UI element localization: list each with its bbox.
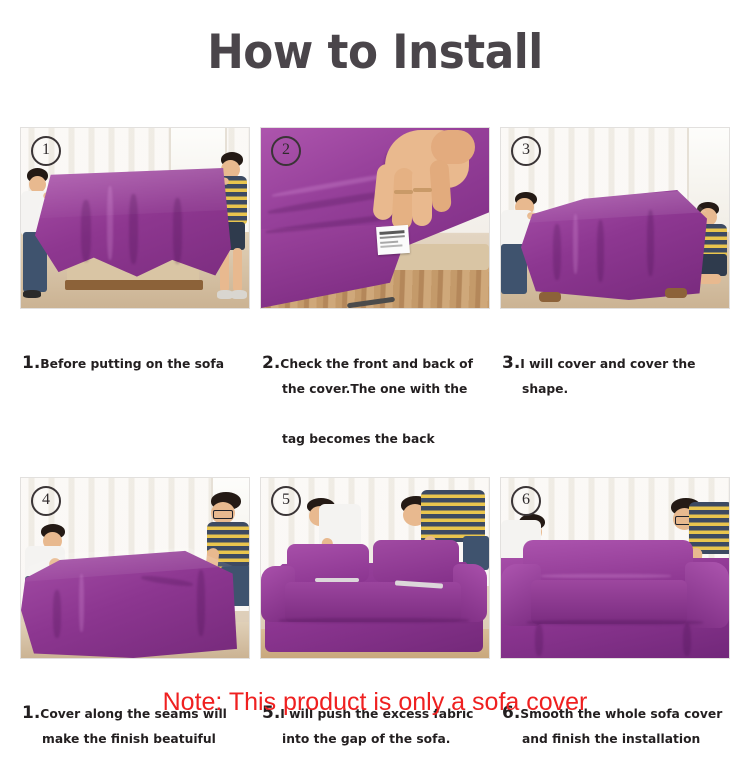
step-badge-3: 3	[511, 136, 541, 166]
step-badge-6: 6	[511, 486, 541, 516]
step-number-3: 3.	[502, 353, 520, 373]
page-title: How to Install	[26, 26, 724, 80]
step-photo-5: 5	[260, 477, 490, 659]
step-caption-line-2-2: the cover.The one with the	[262, 377, 490, 402]
install-steps-grid: 1 1.Before putting on the sofa	[20, 127, 730, 777]
step-cell-4: 4 1.Cover along the seams will make the …	[20, 477, 250, 777]
step-caption-line-5-2: into the gap of the sofa.	[262, 727, 490, 752]
hand-holding-tag	[357, 130, 473, 236]
step-cell-3: 3 3.I will cover and cover the shape.	[500, 127, 730, 477]
step-number-2: 2.	[262, 353, 280, 373]
step-badge-4: 4	[31, 486, 61, 516]
step-caption-line-2-3: tag becomes the back	[262, 427, 490, 452]
step-photo-2: 2	[260, 127, 490, 309]
care-tag	[376, 225, 410, 255]
step-caption-line-3-1: I will cover and cover the	[520, 357, 695, 371]
step-cell-6: 6 6.Smooth the whole sofa cover and fini…	[500, 477, 730, 777]
step-photo-3: 3	[500, 127, 730, 309]
step-caption-line-2-1: Check the front and back of	[280, 357, 473, 371]
step-caption-line-4-2: make the finish beatuiful	[22, 727, 250, 752]
step-caption-line-6-2: and finish the installation	[502, 727, 730, 752]
step-caption-line-1-1: Before putting on the sofa	[40, 357, 224, 371]
step-photo-4: 4	[20, 477, 250, 659]
step-badge-1: 1	[31, 136, 61, 166]
step-badge-2: 2	[271, 136, 301, 166]
step-badge-5: 5	[271, 486, 301, 516]
product-note: Note: This product is only a sofa cover	[0, 688, 750, 717]
step-photo-6: 6	[500, 477, 730, 659]
step-number-1: 1.	[22, 353, 40, 373]
step-photo-1: 1	[20, 127, 250, 309]
step-caption-1: 1.Before putting on the sofa	[20, 326, 250, 412]
step-cell-5: 5 5.I will push the excess fabric into t…	[260, 477, 490, 777]
step-caption-3: 3.I will cover and cover the shape.	[500, 326, 730, 427]
step-cell-2: 2 2.Check the front and back of the cove…	[260, 127, 490, 477]
step-caption-2: 2.Check the front and back of the cover.…	[260, 326, 490, 477]
step-cell-1: 1 1.Before putting on the sofa	[20, 127, 250, 477]
step-caption-line-3-2: shape.	[502, 377, 730, 402]
